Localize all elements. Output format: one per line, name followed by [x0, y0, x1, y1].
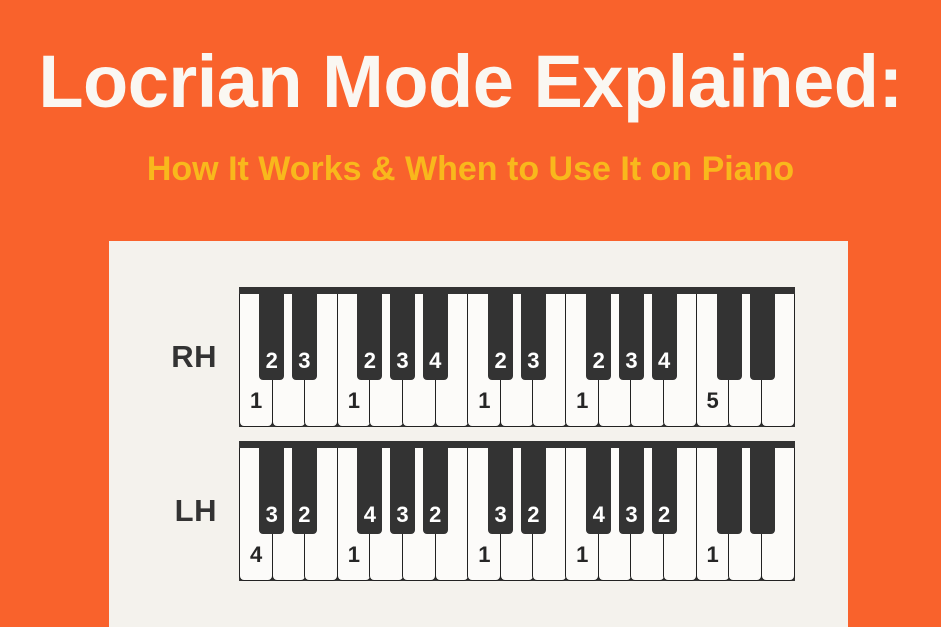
black-key[interactable]: 3 [619, 448, 644, 534]
left-hand-row: LH 41111 3243232432 [157, 441, 795, 581]
black-key[interactable]: 3 [488, 448, 513, 534]
black-key[interactable]: 2 [521, 448, 546, 534]
white-key-finger-label: 1 [566, 388, 598, 414]
black-key[interactable] [750, 294, 775, 380]
black-key-finger-label: 2 [586, 348, 611, 374]
black-key-finger-label: 3 [619, 348, 644, 374]
left-hand-label: LH [157, 493, 239, 529]
black-key-finger-label: 2 [488, 348, 513, 374]
white-keys-group: 11115 [239, 294, 795, 427]
black-key-finger-label: 2 [423, 502, 448, 528]
black-key-finger-label: 4 [652, 348, 677, 374]
white-key-finger-label: 1 [566, 542, 598, 568]
black-key-finger-label: 3 [390, 502, 415, 528]
black-key[interactable]: 4 [652, 294, 677, 380]
black-key[interactable]: 4 [423, 294, 448, 380]
black-key-finger-label: 4 [423, 348, 448, 374]
black-key[interactable]: 4 [357, 448, 382, 534]
white-key-finger-label: 1 [338, 542, 370, 568]
black-key-finger-label: 2 [357, 348, 382, 374]
black-key[interactable]: 2 [586, 294, 611, 380]
black-key-finger-label: 3 [292, 348, 317, 374]
black-key-finger-label: 3 [488, 502, 513, 528]
black-key[interactable]: 3 [390, 448, 415, 534]
black-key[interactable]: 3 [619, 294, 644, 380]
black-key-finger-label: 3 [259, 502, 284, 528]
black-key[interactable]: 3 [259, 448, 284, 534]
black-key-finger-label: 3 [619, 502, 644, 528]
black-key-finger-label: 2 [521, 502, 546, 528]
black-key-finger-label: 2 [292, 502, 317, 528]
white-key-finger-label: 5 [697, 388, 729, 414]
black-key[interactable]: 3 [292, 294, 317, 380]
diagram-card: RH 11115 2323423234 LH 41111 3243232432 [109, 241, 848, 627]
black-key[interactable] [717, 448, 742, 534]
black-key-finger-label: 3 [390, 348, 415, 374]
white-key-finger-label: 1 [240, 388, 272, 414]
black-key-finger-label: 4 [586, 502, 611, 528]
white-key-finger-label: 1 [468, 542, 500, 568]
black-key[interactable]: 2 [652, 448, 677, 534]
black-key[interactable] [750, 448, 775, 534]
page-title: Locrian Mode Explained: [38, 45, 902, 119]
black-key[interactable]: 2 [488, 294, 513, 380]
page-header: Locrian Mode Explained: How It Works & W… [0, 0, 941, 225]
right-hand-row: RH 11115 2323423234 [157, 287, 795, 427]
white-key-finger-label: 1 [338, 388, 370, 414]
black-key[interactable] [717, 294, 742, 380]
black-key-finger-label: 3 [521, 348, 546, 374]
white-key-finger-label: 1 [468, 388, 500, 414]
right-hand-label: RH [157, 339, 239, 375]
black-key-finger-label: 4 [357, 502, 382, 528]
black-key[interactable]: 2 [292, 448, 317, 534]
left-hand-keyboard[interactable]: 41111 3243232432 [239, 441, 795, 581]
white-key-finger-label: 1 [697, 542, 729, 568]
black-key-finger-label: 2 [652, 502, 677, 528]
black-key-finger-label: 2 [259, 348, 284, 374]
black-key[interactable]: 3 [390, 294, 415, 380]
black-key[interactable]: 2 [357, 294, 382, 380]
page-subtitle: How It Works & When to Use It on Piano [147, 152, 794, 186]
white-key-finger-label: 4 [240, 542, 272, 568]
black-key[interactable]: 2 [259, 294, 284, 380]
white-keys-group: 41111 [239, 448, 795, 581]
black-key[interactable]: 4 [586, 448, 611, 534]
black-key[interactable]: 2 [423, 448, 448, 534]
black-key[interactable]: 3 [521, 294, 546, 380]
right-hand-keyboard[interactable]: 11115 2323423234 [239, 287, 795, 427]
